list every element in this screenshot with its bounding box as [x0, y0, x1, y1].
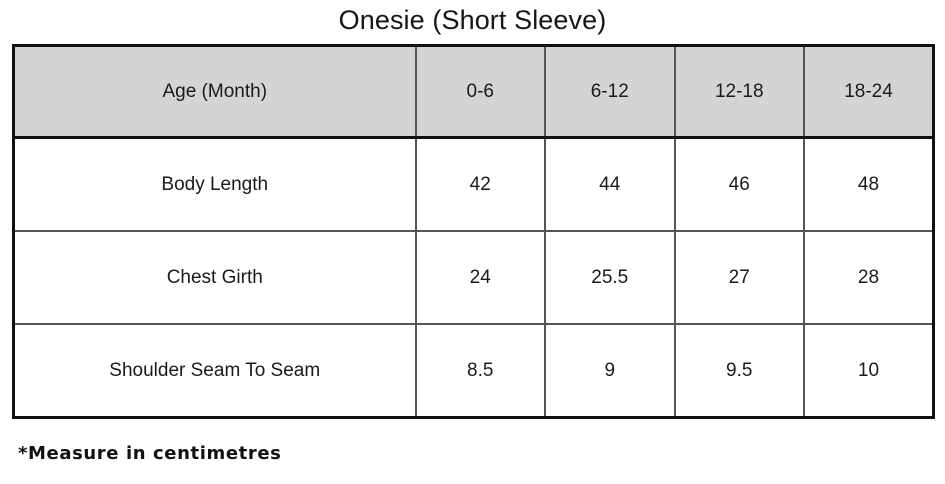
column-header-18-24: 18-24: [804, 46, 934, 138]
measurement-unit-note: *Measure in centimetres: [18, 441, 281, 467]
cell-value: 27: [675, 231, 805, 324]
table-header-row: Age (Month) 0-6 6-12 12-18 18-24: [14, 46, 934, 138]
table-row: Chest Girth 24 25.5 27 28: [14, 231, 934, 324]
column-header-age-month: Age (Month): [14, 46, 416, 138]
column-header-12-18: 12-18: [675, 46, 805, 138]
cell-value: 10: [804, 324, 934, 418]
cell-value: 24: [416, 231, 546, 324]
table-header: Age (Month) 0-6 6-12 12-18 18-24: [14, 46, 934, 138]
page-title: Onesie (Short Sleeve): [0, 2, 945, 38]
cell-value: 28: [804, 231, 934, 324]
table-body: Body Length 42 44 46 48 Chest Girth 24 2…: [14, 138, 934, 418]
table-row: Shoulder Seam To Seam 8.5 9 9.5 10: [14, 324, 934, 418]
row-label-chest-girth: Chest Girth: [14, 231, 416, 324]
cell-value: 48: [804, 138, 934, 232]
size-chart-table: Age (Month) 0-6 6-12 12-18 18-24 Body Le…: [12, 44, 935, 419]
row-label-body-length: Body Length: [14, 138, 416, 232]
table-row: Body Length 42 44 46 48: [14, 138, 934, 232]
column-header-0-6: 0-6: [416, 46, 546, 138]
cell-value: 25.5: [545, 231, 675, 324]
cell-value: 8.5: [416, 324, 546, 418]
cell-value: 46: [675, 138, 805, 232]
cell-value: 44: [545, 138, 675, 232]
row-label-shoulder-seam-to-seam: Shoulder Seam To Seam: [14, 324, 416, 418]
cell-value: 9: [545, 324, 675, 418]
column-header-6-12: 6-12: [545, 46, 675, 138]
size-chart-page: Onesie (Short Sleeve) Age (Month) 0-6 6-…: [0, 0, 945, 484]
cell-value: 9.5: [675, 324, 805, 418]
cell-value: 42: [416, 138, 546, 232]
